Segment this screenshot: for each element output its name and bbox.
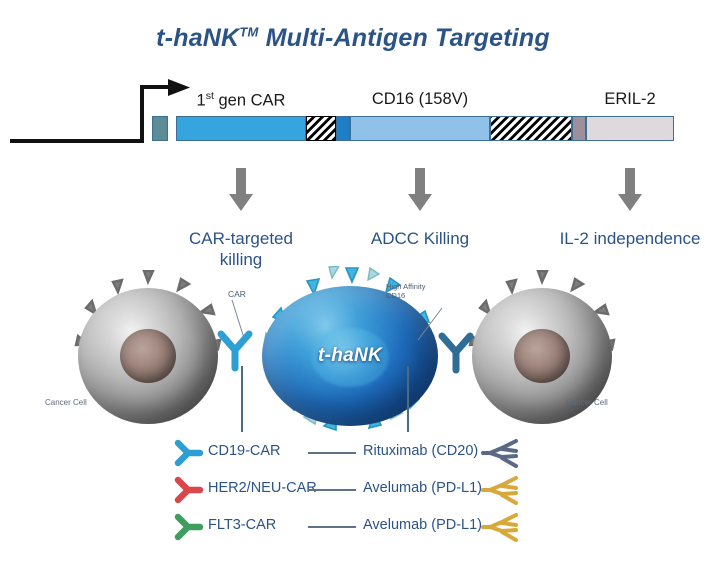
legend-antibody-name: Avelumab (PD-L1) — [363, 517, 482, 533]
title-suffix: Multi-Antigen Targeting — [258, 24, 549, 52]
construct-segment-eril2 — [586, 116, 674, 141]
function-label-adcc-killing: ADCC Killing — [340, 228, 500, 249]
construct-label-first-gen-car: 1st gen CAR — [161, 90, 321, 111]
construct-segment-car-tail — [336, 116, 350, 141]
car-icon-cd19 — [172, 438, 204, 468]
gene-construct-diagram: 1st gen CAR CD16 (158V) ERIL-2 — [0, 78, 706, 158]
antibody-icon-avelumab — [480, 511, 520, 543]
legend-antibody-name: Rituximab (CD20) — [363, 443, 478, 459]
cd16-annotation-label: High Affinity CD16 — [386, 282, 425, 300]
legend-connector — [308, 526, 356, 528]
cancer-cell-right-nucleus — [514, 329, 570, 383]
connector-line-car — [241, 366, 243, 432]
page-title: t-haNKTM Multi-Antigen Targeting — [0, 24, 706, 53]
car-icon-flt3 — [172, 512, 204, 542]
construct-segment-car-hatch — [306, 116, 336, 141]
car-leader-line — [222, 298, 262, 342]
cancer-cell-label-left: Cancer Cell — [45, 398, 87, 407]
function-label-il2-independence: IL-2 independence — [530, 228, 706, 249]
legend-car-name: CD19-CAR — [208, 443, 281, 459]
car-icon-her2neu — [172, 475, 204, 505]
legend-connector — [308, 452, 356, 454]
legend-antibody-name: Avelumab (PD-L1) — [363, 480, 482, 496]
cell-illustration: Cancer Cell Cancer Cell — [0, 262, 706, 432]
title-prefix: t-haNK — [156, 24, 239, 52]
down-arrow-icon-adcc — [407, 168, 433, 212]
cancer-cell-label-right: Cancer Cell — [566, 398, 608, 407]
legend-row: HER2/NEU-CAR Avelumab (PD-L1) — [0, 473, 706, 507]
construct-segment-leader — [152, 116, 168, 141]
construct-segment-first-gen-car — [176, 116, 306, 141]
legend-row: FLT3-CAR Avelumab (PD-L1) — [0, 510, 706, 544]
construct-segment-eril2-anchor — [572, 116, 586, 141]
down-arrow-icon-il2 — [617, 168, 643, 212]
legend-row: CD19-CAR Rituximab (CD20) — [0, 436, 706, 470]
construct-segment-linker-hatch — [490, 116, 572, 141]
cd16-leader-line — [410, 306, 460, 346]
antibody-icon-avelumab — [480, 474, 520, 506]
construct-segment-cd16 — [350, 116, 490, 141]
antibody-icon-rituximab — [480, 437, 520, 469]
figure-root: t-haNKTM Multi-Antigen Targeting 1st gen… — [0, 0, 706, 578]
cancer-cell-left-nucleus — [120, 329, 176, 383]
construct-label-cd16: CD16 (158V) — [340, 90, 500, 109]
cancer-cell-left — [78, 288, 218, 424]
trademark-symbol: TM — [239, 25, 258, 40]
legend: CD19-CAR Rituximab (CD20) HER2/NEU-CAR A… — [0, 432, 706, 544]
legend-car-name: HER2/NEU-CAR — [208, 480, 317, 496]
legend-connector — [308, 489, 356, 491]
down-arrow-icon-car — [228, 168, 254, 212]
legend-car-name: FLT3-CAR — [208, 517, 276, 533]
connector-line-cd16 — [407, 366, 409, 432]
construct-label-eril2: ERIL-2 — [570, 90, 690, 109]
